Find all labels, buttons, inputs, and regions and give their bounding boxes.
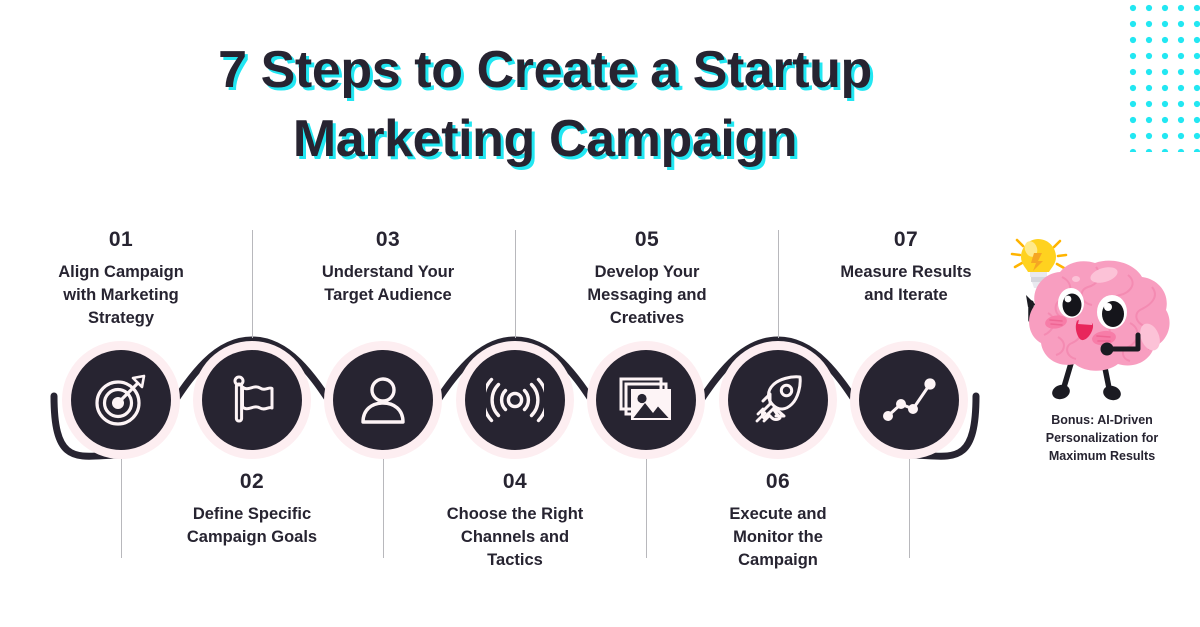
connector-stem-01 [121,458,122,558]
step-number-05: 05 [537,228,757,252]
step-icon-circle-06[interactable] [728,350,828,450]
flag-icon [224,372,280,428]
step-node-04[interactable] [465,350,565,450]
connector-stem-07 [909,458,910,558]
line-chart-icon [880,375,938,425]
brain-character [1000,225,1185,415]
step-caption-03: Understand Your Target Audience [278,261,498,307]
step-number-04: 04 [405,470,625,494]
eye-right [1097,295,1127,329]
step-caption-05: Develop Your Messaging and Creatives [537,261,757,329]
connector-stem-04 [515,230,516,338]
step-caption-04: Choose the Right Channels and Tactics [405,503,625,571]
step-number-07: 07 [798,228,1014,252]
image-stack-icon [617,373,675,427]
step-node-07[interactable] [859,350,959,450]
step-caption-01: Align Campaign with Marketing Strategy [11,261,231,329]
person-icon [355,372,411,428]
step-label-02: 02 Define Specific Campaign Goals [142,470,362,549]
step-node-02[interactable] [202,350,302,450]
step-icon-circle-02[interactable] [202,350,302,450]
infographic-canvas: 7 Steps to Create a Startup Marketing Ca… [0,0,1200,627]
connector-stem-02 [252,230,253,338]
target-icon [92,371,150,429]
broadcast-icon [486,371,544,429]
step-number-06: 06 [668,470,888,494]
rocket-icon [749,371,807,429]
connector-stem-05 [646,458,647,558]
step-icon-circle-04[interactable] [465,350,565,450]
step-caption-02: Define Specific Campaign Goals [142,503,362,549]
step-node-01[interactable] [71,350,171,450]
step-label-07: 07 Measure Results and Iterate [798,228,1014,307]
step-caption-07: Measure Results and Iterate [798,261,1014,307]
connector-stem-03 [383,458,384,558]
step-node-06[interactable] [728,350,828,450]
step-number-02: 02 [142,470,362,494]
step-number-03: 03 [278,228,498,252]
step-label-04: 04 Choose the Right Channels and Tactics [405,470,625,571]
step-label-01: 01 Align Campaign with Marketing Strateg… [11,228,231,329]
step-label-06: 06 Execute and Monitor the Campaign [668,470,888,571]
step-node-03[interactable] [333,350,433,450]
step-icon-circle-07[interactable] [859,350,959,450]
bonus-caption: Bonus: AI-Driven Personalization for Max… [1022,412,1182,465]
step-number-01: 01 [11,228,231,252]
step-node-05[interactable] [596,350,696,450]
step-label-03: 03 Understand Your Target Audience [278,228,498,307]
step-icon-circle-05[interactable] [596,350,696,450]
step-icon-circle-03[interactable] [333,350,433,450]
step-icon-circle-01[interactable] [71,350,171,450]
eye-left [1058,288,1084,318]
step-caption-06: Execute and Monitor the Campaign [668,503,888,571]
step-label-05: 05 Develop Your Messaging and Creatives [537,228,757,329]
connector-stem-06 [778,230,779,338]
